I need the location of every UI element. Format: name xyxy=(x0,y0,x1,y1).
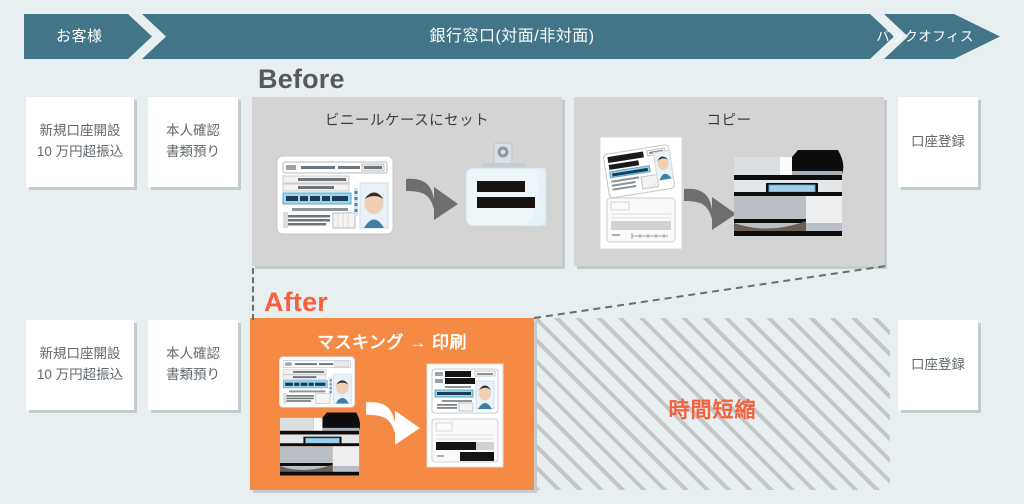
before-step-account-registration[interactable]: 口座登録 xyxy=(898,97,978,187)
before-step-new-account[interactable]: 新規口座開設 10 万円超振込 xyxy=(26,97,134,187)
before-panel-copy[interactable]: コピー xyxy=(574,97,884,266)
after-step-new-account[interactable]: 新規口座開設 10 万円超振込 xyxy=(26,320,134,410)
swimlane-header: お客様 銀行窓口(対面/非対面) バックオフィス xyxy=(24,14,1000,59)
time-reduction-label: 時間短縮 xyxy=(535,394,890,424)
panel-title: ビニールケースにセット xyxy=(252,109,562,130)
before-step-identity-documents[interactable]: 本人確認 書類預り xyxy=(148,97,238,187)
step-label: 口座登録 xyxy=(911,355,965,376)
process-arrow-icon xyxy=(402,173,462,225)
after-step-identity-documents[interactable]: 本人確認 書類預り xyxy=(148,320,238,410)
section-caption-after: After xyxy=(264,287,328,318)
process-arrow-icon xyxy=(680,183,740,235)
panel-title: コピー xyxy=(574,109,884,130)
after-panel-masking-print[interactable]: マスキング → 印刷 xyxy=(250,318,534,490)
document-with-card-icon xyxy=(598,135,684,251)
dashed-guide-diagonal xyxy=(520,262,888,320)
copier-icon xyxy=(280,408,362,480)
after-time-reduction-area: 時間短縮 xyxy=(535,318,890,490)
process-arrow-icon xyxy=(362,396,424,450)
dashed-guide-vertical xyxy=(252,268,254,320)
step-label: 新規口座開設 10 万円超振込 xyxy=(37,344,123,386)
step-label: 本人確認 書類預り xyxy=(166,344,220,386)
masked-output-document-icon xyxy=(426,363,504,468)
step-label: 本人確認 書類預り xyxy=(166,121,220,163)
after-step-account-registration[interactable]: 口座登録 xyxy=(898,320,978,410)
step-label: 口座登録 xyxy=(911,132,965,153)
copier-icon xyxy=(734,145,846,241)
before-panel-vinyl-case[interactable]: ビニールケースにセット xyxy=(252,97,562,266)
drivers-license-icon xyxy=(276,155,394,235)
panel-title: マスキング → 印刷 xyxy=(250,328,534,353)
id-badge-holder-icon xyxy=(460,139,552,231)
swimlane-label-back-office: バックオフィス xyxy=(876,14,974,59)
section-caption-before: Before xyxy=(258,64,345,95)
swimlane-label-bank-teller: 銀行窓口(対面/非対面) xyxy=(24,14,1000,59)
drivers-license-icon xyxy=(278,356,356,408)
step-label: 新規口座開設 10 万円超振込 xyxy=(37,121,123,163)
